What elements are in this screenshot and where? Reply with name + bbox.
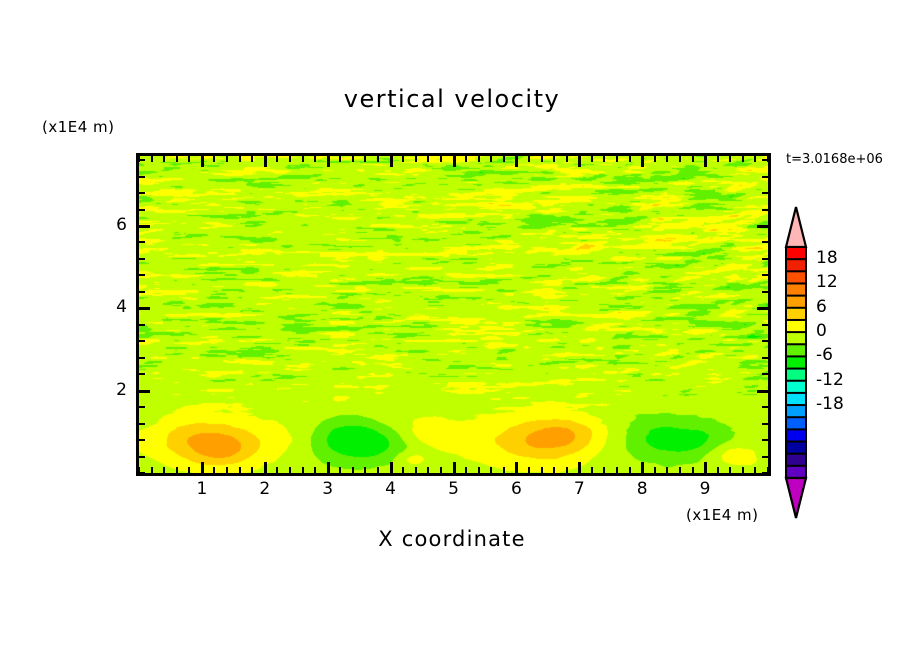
colorbar-band (786, 247, 806, 260)
tick-mark (377, 467, 379, 473)
colorbar-band (786, 381, 806, 394)
tick-mark (264, 462, 267, 473)
tick-mark (251, 467, 253, 473)
tick-mark (762, 258, 768, 260)
tick-mark (490, 467, 492, 473)
tick-mark (629, 156, 631, 162)
colorbar-over-arrow (786, 207, 806, 247)
tick-mark (139, 357, 145, 359)
x-tick-label: 6 (486, 479, 546, 499)
tick-mark (762, 439, 768, 441)
tick-mark (327, 462, 330, 473)
tick-mark (591, 156, 593, 162)
tick-mark (553, 467, 555, 473)
x-tick-label: 7 (549, 479, 609, 499)
tick-mark (692, 156, 694, 162)
tick-mark (578, 156, 581, 167)
tick-mark (364, 156, 366, 162)
tick-mark (603, 467, 605, 473)
tick-mark (139, 390, 150, 393)
tick-mark (742, 156, 744, 162)
colorbar-under-arrow (786, 478, 806, 518)
x-tick-label: 8 (612, 479, 672, 499)
tick-mark (139, 176, 145, 178)
y-axis-unit-label: (x1E4 m) (42, 118, 115, 136)
tick-mark (440, 156, 442, 162)
colorbar-band (786, 283, 806, 296)
tick-mark (276, 156, 278, 162)
tick-mark (151, 467, 153, 473)
tick-mark (251, 156, 253, 162)
colorbar-band (786, 344, 806, 357)
y-tick-label: 6 (101, 215, 127, 235)
tick-mark (591, 467, 593, 473)
tick-mark (762, 274, 768, 276)
tick-mark (139, 225, 150, 228)
figure-canvas: vertical velocity (x1E4 m) t=3.0168e+06 … (0, 0, 904, 654)
tick-mark (679, 156, 681, 162)
tick-mark (314, 467, 316, 473)
tick-mark (213, 467, 215, 473)
tick-mark (264, 156, 267, 167)
tick-mark (151, 156, 153, 162)
tick-mark (289, 467, 291, 473)
colorbar-tick-label: -18 (816, 394, 844, 414)
tick-mark (578, 462, 581, 473)
tick-mark (139, 209, 145, 211)
tick-mark (302, 156, 304, 162)
colorbar-band (786, 320, 806, 333)
colorbar-tick-label: -6 (816, 345, 833, 365)
tick-mark (139, 423, 145, 425)
tick-mark (390, 462, 393, 473)
tick-mark (352, 467, 354, 473)
tick-mark (139, 159, 145, 161)
tick-mark (717, 467, 719, 473)
tick-mark (201, 462, 204, 473)
tick-mark (528, 156, 530, 162)
colorbar-band (786, 454, 806, 467)
colorbar-band (786, 332, 806, 345)
colorbar-tick-label: 18 (816, 248, 838, 268)
tick-mark (762, 241, 768, 243)
x-tick-label: 1 (172, 479, 232, 499)
colorbar-band (786, 466, 806, 479)
tick-mark (139, 307, 150, 310)
x-tick-label: 2 (235, 479, 295, 499)
tick-mark (139, 192, 145, 194)
tick-mark (762, 159, 768, 161)
tick-mark (729, 467, 731, 473)
tick-mark (377, 156, 379, 162)
tick-mark (453, 156, 456, 167)
tick-mark (762, 176, 768, 178)
tick-mark (465, 467, 467, 473)
tick-mark (478, 467, 480, 473)
x-tick-label: 3 (298, 479, 358, 499)
y-tick-label: 4 (101, 297, 127, 317)
tick-mark (201, 156, 204, 167)
tick-mark (762, 324, 768, 326)
colorbar-band (786, 393, 806, 406)
tick-mark (139, 373, 145, 375)
x-axis-unit-label: (x1E4 m) (686, 506, 759, 524)
tick-mark (603, 156, 605, 162)
tick-mark (762, 472, 768, 474)
tick-mark (762, 340, 768, 342)
tick-mark (641, 156, 644, 167)
colorbar-tick-label: 6 (816, 297, 827, 317)
tick-mark (339, 156, 341, 162)
tick-mark (490, 156, 492, 162)
tick-mark (704, 156, 707, 167)
tick-mark (139, 472, 145, 474)
tick-mark (402, 156, 404, 162)
tick-mark (754, 156, 756, 162)
tick-mark (226, 156, 228, 162)
colorbar-band (786, 417, 806, 430)
tick-mark (754, 467, 756, 473)
tick-mark (176, 467, 178, 473)
tick-mark (139, 406, 145, 408)
tick-mark (415, 156, 417, 162)
colorbar-svg (783, 205, 809, 520)
tick-mark (679, 467, 681, 473)
x-tick-label: 4 (361, 479, 421, 499)
tick-mark (427, 467, 429, 473)
tick-mark (762, 357, 768, 359)
tick-mark (139, 241, 145, 243)
tick-mark (616, 156, 618, 162)
colorbar-band (786, 369, 806, 382)
tick-mark (566, 156, 568, 162)
colorbar-band (786, 259, 806, 272)
tick-mark (729, 156, 731, 162)
tick-mark (352, 156, 354, 162)
tick-mark (239, 467, 241, 473)
tick-mark (139, 324, 145, 326)
x-tick-label: 9 (675, 479, 735, 499)
tick-mark (139, 340, 145, 342)
tick-mark (762, 456, 768, 458)
tick-mark (176, 156, 178, 162)
tick-mark (616, 467, 618, 473)
tick-mark (757, 307, 768, 310)
tick-mark (541, 467, 543, 473)
tick-mark (503, 467, 505, 473)
tick-mark (566, 467, 568, 473)
x-axis-title: X coordinate (0, 527, 904, 551)
colorbar (783, 205, 809, 520)
tick-mark (163, 467, 165, 473)
tick-mark (139, 439, 145, 441)
tick-mark (440, 467, 442, 473)
tick-mark (641, 462, 644, 473)
tick-mark (427, 156, 429, 162)
tick-mark (327, 156, 330, 167)
plot-area (136, 153, 771, 476)
tick-mark (654, 156, 656, 162)
tick-mark (339, 467, 341, 473)
x-axis-title-text: X coordinate (378, 527, 525, 551)
tick-mark (139, 291, 145, 293)
tick-mark (528, 467, 530, 473)
tick-mark (139, 258, 145, 260)
x-tick-label: 5 (424, 479, 484, 499)
tick-mark (478, 156, 480, 162)
tick-mark (629, 467, 631, 473)
tick-mark (139, 274, 145, 276)
tick-mark (515, 462, 518, 473)
tick-mark (163, 156, 165, 162)
colorbar-band (786, 356, 806, 369)
tick-mark (762, 373, 768, 375)
tick-mark (302, 467, 304, 473)
tick-mark (188, 467, 190, 473)
tick-mark (213, 156, 215, 162)
tick-mark (289, 156, 291, 162)
tick-mark (666, 467, 668, 473)
colorbar-band (786, 429, 806, 442)
contour-field (139, 156, 768, 473)
timestamp-annotation: t=3.0168e+06 (786, 152, 883, 167)
tick-mark (364, 467, 366, 473)
colorbar-tick-label: 12 (816, 272, 838, 292)
tick-mark (717, 156, 719, 162)
colorbar-band (786, 442, 806, 455)
tick-mark (762, 192, 768, 194)
tick-mark (188, 156, 190, 162)
colorbar-tick-label: -12 (816, 370, 844, 390)
tick-mark (654, 467, 656, 473)
tick-mark (762, 406, 768, 408)
tick-mark (503, 156, 505, 162)
tick-mark (465, 156, 467, 162)
colorbar-band (786, 271, 806, 284)
tick-mark (390, 156, 393, 167)
y-tick-label: 2 (101, 380, 127, 400)
tick-mark (515, 156, 518, 167)
tick-mark (762, 209, 768, 211)
tick-mark (276, 467, 278, 473)
tick-mark (762, 423, 768, 425)
tick-mark (541, 156, 543, 162)
tick-mark (415, 467, 417, 473)
chart-title: vertical velocity (0, 85, 904, 113)
tick-mark (692, 467, 694, 473)
tick-mark (762, 291, 768, 293)
colorbar-tick-label: 0 (816, 321, 827, 341)
tick-mark (139, 456, 145, 458)
colorbar-band (786, 296, 806, 309)
tick-mark (666, 156, 668, 162)
tick-mark (757, 225, 768, 228)
colorbar-band (786, 308, 806, 321)
tick-mark (553, 156, 555, 162)
tick-mark (704, 462, 707, 473)
tick-mark (757, 390, 768, 393)
tick-mark (314, 156, 316, 162)
tick-mark (239, 156, 241, 162)
tick-mark (742, 467, 744, 473)
tick-mark (402, 467, 404, 473)
tick-mark (226, 467, 228, 473)
tick-mark (453, 462, 456, 473)
colorbar-band (786, 405, 806, 418)
